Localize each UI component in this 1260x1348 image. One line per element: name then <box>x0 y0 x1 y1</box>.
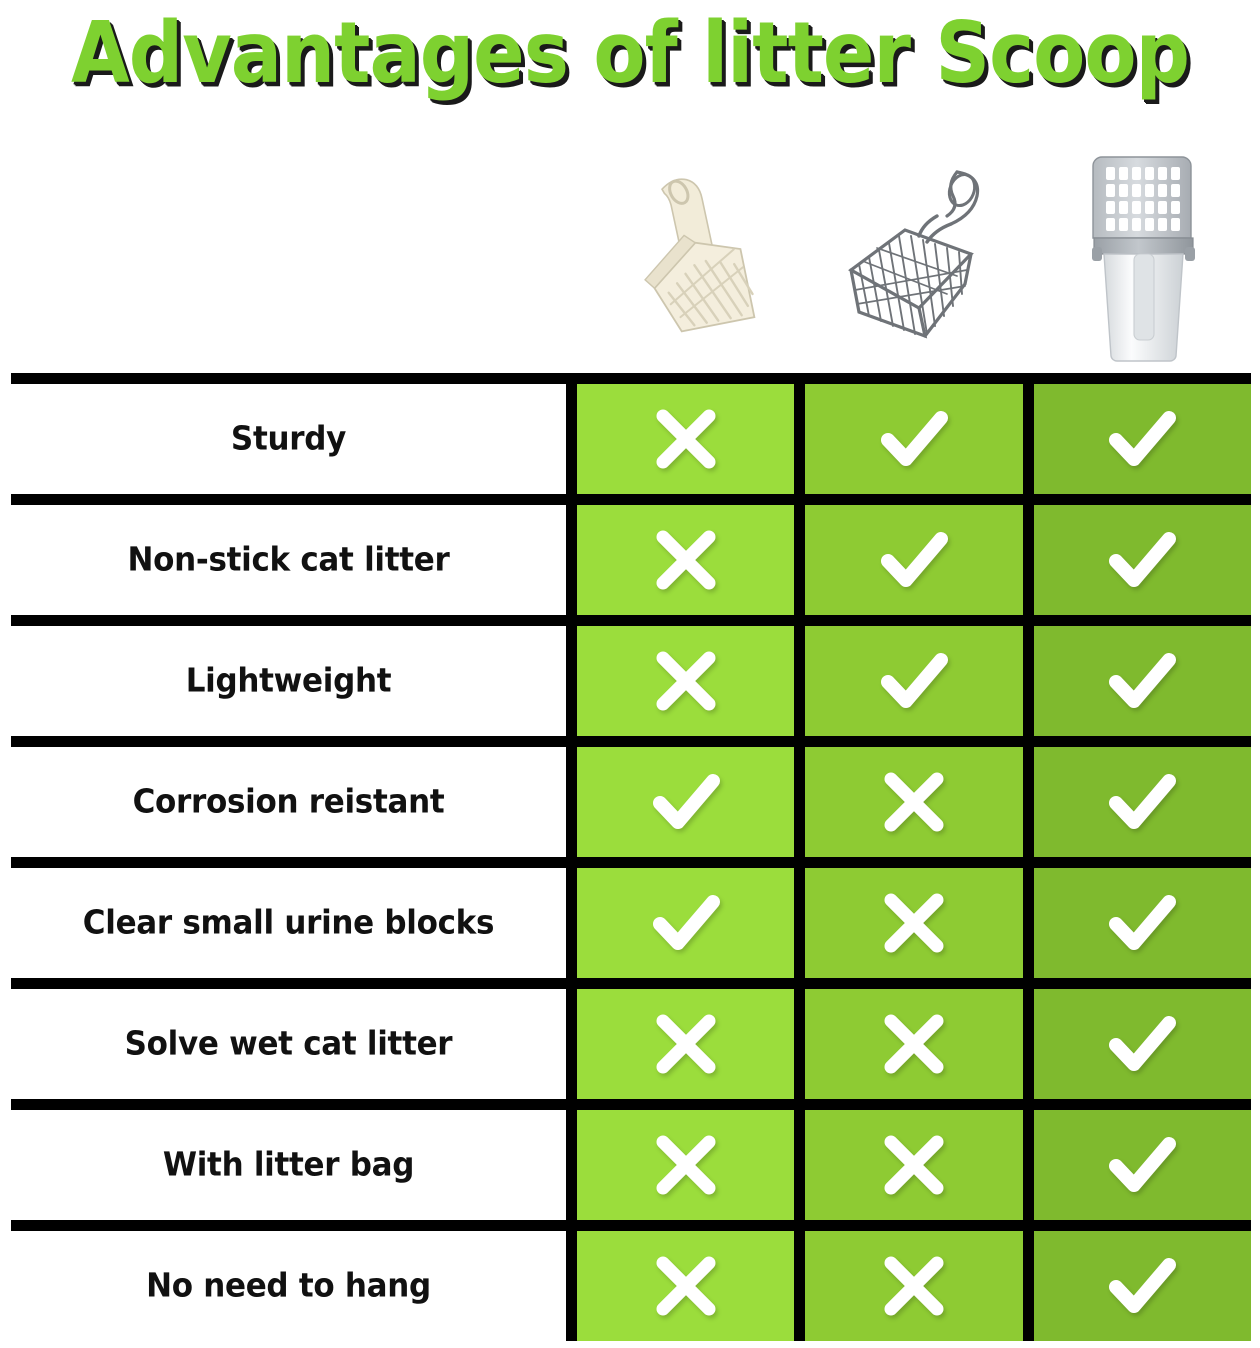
feature-label: Solve wet cat litter <box>125 1025 453 1063</box>
comparison-cell <box>1034 626 1251 736</box>
cross-icon <box>871 759 957 845</box>
table-row: Solve wet cat litter <box>11 989 1251 1099</box>
check-icon <box>1099 880 1185 966</box>
check-icon <box>1099 1243 1185 1329</box>
cross-icon <box>643 517 729 603</box>
table-row-divider <box>11 494 1251 505</box>
feature-label: Clear small urine blocks <box>83 904 494 942</box>
feature-label: Corrosion reistant <box>133 783 445 821</box>
column-divider <box>566 626 577 736</box>
comparison-cell <box>1034 505 1251 615</box>
column-divider <box>566 1231 577 1341</box>
table-row-divider <box>11 857 1251 868</box>
feature-label-cell: With litter bag <box>11 1110 566 1220</box>
comparison-cell <box>1034 384 1251 494</box>
feature-label: Lightweight <box>186 662 392 700</box>
check-icon <box>871 638 957 724</box>
table-row-divider <box>11 736 1251 747</box>
comparison-cell <box>577 989 794 1099</box>
column-divider <box>1023 1110 1034 1220</box>
product-header-row <box>571 130 1260 373</box>
cross-icon <box>871 1243 957 1329</box>
column-divider <box>1023 989 1034 1099</box>
table-row: With litter bag <box>11 1110 1251 1220</box>
cross-icon <box>871 1122 957 1208</box>
comparison-cell <box>577 747 794 857</box>
check-icon <box>643 880 729 966</box>
page-title: Advantages of litter Scoop <box>0 4 1260 100</box>
comparison-cell <box>805 747 1022 857</box>
table-row-divider <box>11 373 1251 384</box>
column-divider <box>566 747 577 857</box>
feature-label-cell: Clear small urine blocks <box>11 868 566 978</box>
feature-label-cell: Sturdy <box>11 384 566 494</box>
column-divider <box>794 626 805 736</box>
comparison-cell <box>1034 989 1251 1099</box>
feature-label: With litter bag <box>163 1146 414 1184</box>
cross-icon <box>643 1001 729 1087</box>
check-icon <box>1099 759 1185 845</box>
check-icon <box>643 759 729 845</box>
column-divider <box>794 868 805 978</box>
product-image-litter-scoop-with-holder <box>1029 130 1258 373</box>
comparison-cell <box>805 384 1022 494</box>
comparison-cell <box>1034 1231 1251 1341</box>
comparison-cell <box>805 989 1022 1099</box>
column-divider <box>1023 626 1034 736</box>
table-row: No need to hang <box>11 1231 1251 1341</box>
column-divider <box>794 1231 805 1341</box>
cross-icon <box>871 1001 957 1087</box>
column-divider <box>794 505 805 615</box>
product-image-metal-wire-litter-scoop <box>800 130 1029 373</box>
comparison-infographic: Advantages of litter Scoop <box>0 0 1260 1348</box>
comparison-cell <box>805 868 1022 978</box>
column-divider <box>566 868 577 978</box>
comparison-cell <box>577 868 794 978</box>
column-divider <box>1023 505 1034 615</box>
feature-label-cell: Solve wet cat litter <box>11 989 566 1099</box>
feature-label-cell: Non-stick cat litter <box>11 505 566 615</box>
table-row: Lightweight <box>11 626 1251 736</box>
product-image-plastic-litter-scoop <box>571 130 800 373</box>
check-icon <box>1099 517 1185 603</box>
cross-icon <box>871 880 957 966</box>
feature-label-cell: Lightweight <box>11 626 566 736</box>
comparison-cell <box>805 505 1022 615</box>
cross-icon <box>643 1243 729 1329</box>
column-divider <box>1023 747 1034 857</box>
comparison-cell <box>577 384 794 494</box>
comparison-table: SturdyNon-stick cat litterLightweightCor… <box>11 373 1251 1348</box>
column-divider <box>566 505 577 615</box>
column-divider <box>566 989 577 1099</box>
comparison-cell <box>1034 1110 1251 1220</box>
check-icon <box>1099 396 1185 482</box>
check-icon <box>1099 1001 1185 1087</box>
comparison-cell <box>805 626 1022 736</box>
table-row: Sturdy <box>11 384 1251 494</box>
page-title-text: Advantages of litter Scoop <box>71 2 1189 102</box>
table-row-divider <box>11 978 1251 989</box>
column-divider <box>1023 1231 1034 1341</box>
comparison-cell <box>577 1231 794 1341</box>
check-icon <box>1099 1122 1185 1208</box>
comparison-cell <box>577 1110 794 1220</box>
check-icon <box>871 517 957 603</box>
table-row-divider <box>11 615 1251 626</box>
cross-icon <box>643 638 729 724</box>
feature-label: Sturdy <box>231 420 346 458</box>
comparison-cell <box>577 626 794 736</box>
comparison-cell <box>1034 747 1251 857</box>
feature-label-cell: Corrosion reistant <box>11 747 566 857</box>
feature-label-cell: No need to hang <box>11 1231 566 1341</box>
column-divider <box>1023 868 1034 978</box>
table-row-divider <box>11 1099 1251 1110</box>
table-row: Non-stick cat litter <box>11 505 1251 615</box>
comparison-cell <box>1034 868 1251 978</box>
comparison-cell <box>577 505 794 615</box>
column-divider <box>794 1110 805 1220</box>
column-divider <box>1023 384 1034 494</box>
check-icon <box>871 396 957 482</box>
check-icon <box>1099 638 1185 724</box>
table-row-divider <box>11 1220 1251 1231</box>
feature-label: No need to hang <box>146 1267 431 1305</box>
column-divider <box>794 989 805 1099</box>
column-divider <box>794 747 805 857</box>
cross-icon <box>643 1122 729 1208</box>
table-row: Corrosion reistant <box>11 747 1251 857</box>
cross-icon <box>643 396 729 482</box>
table-row: Clear small urine blocks <box>11 868 1251 978</box>
column-divider <box>566 1110 577 1220</box>
feature-label: Non-stick cat litter <box>128 541 450 579</box>
comparison-cell <box>805 1110 1022 1220</box>
column-divider <box>794 384 805 494</box>
column-divider <box>566 384 577 494</box>
comparison-cell <box>805 1231 1022 1341</box>
